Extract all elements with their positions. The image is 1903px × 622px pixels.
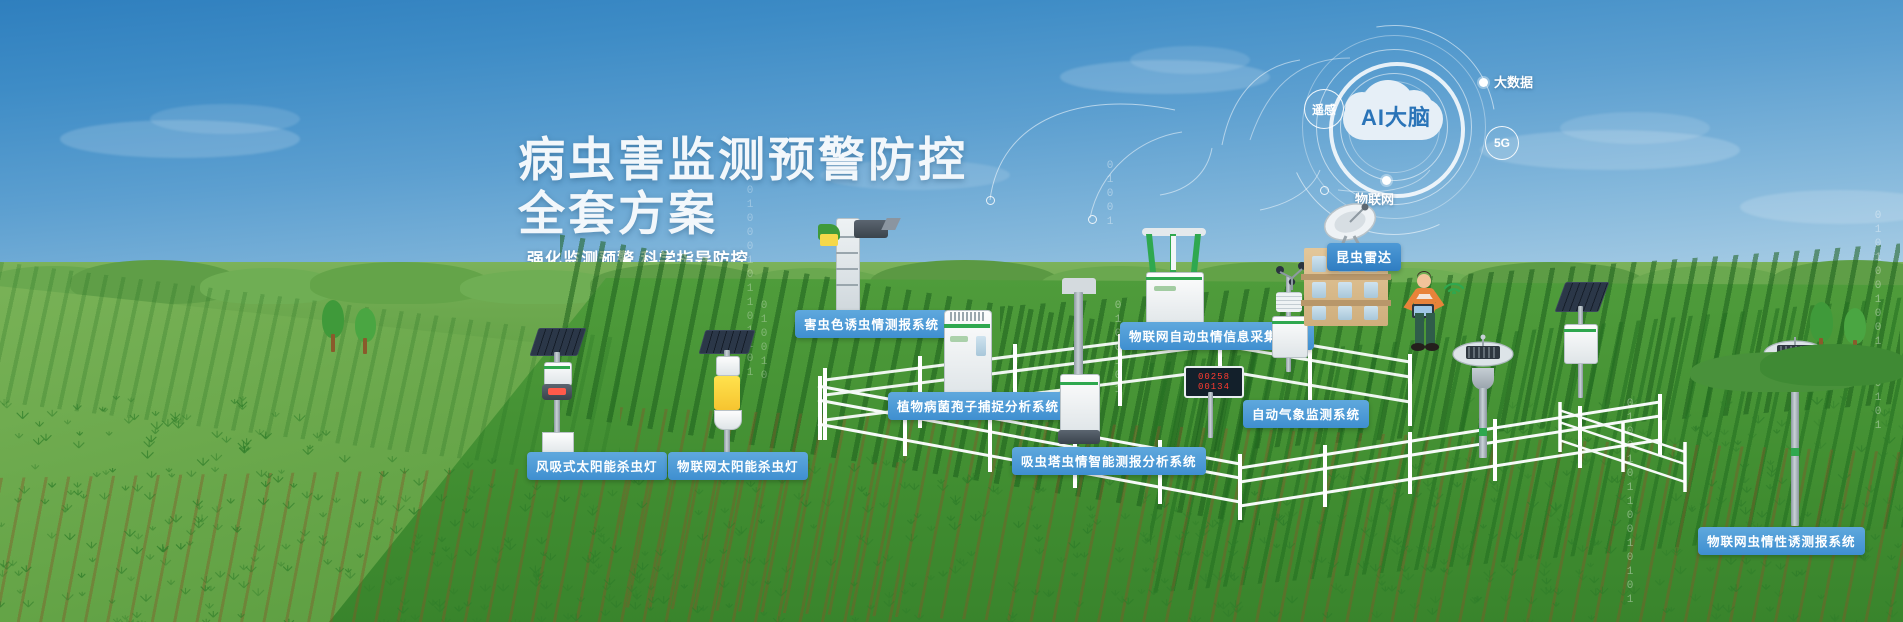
building-window <box>1338 282 1352 298</box>
building-window <box>1312 282 1326 298</box>
node-remote-sensing[interactable]: 遥感 <box>1304 89 1344 129</box>
building-window <box>1312 256 1326 272</box>
logo-mark <box>1154 286 1176 291</box>
lamp-indicator <box>548 388 566 395</box>
device-iot-solar-insect-lamp[interactable] <box>700 330 770 460</box>
tower-base <box>1058 430 1100 444</box>
connector-endpoint <box>1320 186 1329 195</box>
led-line-1: 00258 <box>1198 372 1230 382</box>
led-line-2: 00134 <box>1198 382 1230 392</box>
logo-mark <box>950 336 968 342</box>
ladder-rung <box>836 252 858 254</box>
cloud-shape <box>1560 112 1710 144</box>
label-color-lure-pest-forecast[interactable]: 害虫色诱虫情测报系统 <box>795 310 948 338</box>
node-iot-dot[interactable] <box>1382 176 1391 185</box>
funnel <box>1472 368 1494 390</box>
device-wind-suction-solar-insect-lamp[interactable] <box>530 328 600 458</box>
controller-box <box>716 356 740 376</box>
page-title: 病虫害监测预警防控 全套方案 <box>518 133 968 241</box>
building-window <box>1312 306 1326 320</box>
vent-grille <box>950 312 984 321</box>
page-title-line1: 病虫害监测预警防控 <box>518 133 968 187</box>
node-big-data-label: 大数据 <box>1494 72 1533 91</box>
lamp-cage-bar <box>1146 234 1156 272</box>
tree <box>352 308 380 354</box>
pheromone-collector-head <box>1448 338 1518 372</box>
uv-lamp <box>714 376 740 410</box>
wifi-icon <box>1441 272 1467 294</box>
label-insect-radar[interactable]: 昆虫雷达 <box>1327 243 1401 271</box>
ladder-rung <box>836 284 858 286</box>
accent-band <box>1564 329 1596 332</box>
label-wind-suction-solar-insect-lamp[interactable]: 风吸式太阳能杀虫灯 <box>527 452 667 480</box>
building-window <box>1338 306 1352 320</box>
building-window <box>1364 306 1378 320</box>
device-suction-tower-forecast[interactable] <box>1056 278 1102 448</box>
accent-band <box>1272 321 1306 324</box>
binary-decoration: 01001 <box>1104 160 1116 230</box>
node-5g-label: 5G <box>1494 136 1510 150</box>
node-remote-sensing-label: 遥感 <box>1312 101 1336 118</box>
radiation-shield <box>1276 292 1302 312</box>
label-suction-tower-forecast[interactable]: 吸虫塔虫情智能测报分析系统 <box>1012 447 1206 475</box>
device-plant-spore-capture[interactable] <box>944 310 998 400</box>
node-big-data-dot[interactable] <box>1479 78 1488 87</box>
binary-decoration: 010010110010101 <box>1624 398 1636 608</box>
accent-band <box>1060 382 1098 385</box>
sticky-board <box>820 234 838 246</box>
node-5g[interactable]: 5G <box>1485 126 1519 160</box>
lamp-cage-bar <box>1191 234 1201 272</box>
fence-inner-small <box>1555 400 1755 490</box>
connector-endpoint <box>1088 215 1097 224</box>
banner-illustration: 病虫害监测预警防控 全套方案 强化监测预警 科学指导防控 AI大脑 遥感 大数据… <box>0 0 1903 622</box>
led-display-board: 00258 00134 <box>1184 366 1244 398</box>
lamp-tube <box>1171 236 1176 270</box>
connector-endpoint <box>986 196 995 205</box>
label-auto-weather-monitoring[interactable]: 自动气象监测系统 <box>1243 400 1369 428</box>
page-title-line2: 全套方案 <box>518 187 968 241</box>
tree <box>318 300 348 352</box>
device-pole <box>1791 390 1799 526</box>
accent-band <box>544 366 570 369</box>
binary-decoration: 0101001001010101 <box>1872 210 1884 434</box>
accent-band <box>1791 448 1799 456</box>
device-iot-pheromone-forecast[interactable] <box>1448 338 1518 458</box>
building-window <box>1364 282 1378 298</box>
collection-base <box>714 410 742 430</box>
label-plant-spore-capture[interactable]: 植物病菌孢子捕捉分析系统 <box>888 392 1068 420</box>
bush <box>1760 344 1903 386</box>
led-board-pole <box>1208 392 1213 438</box>
accent-band <box>1479 428 1487 436</box>
ladder-rung <box>836 268 858 270</box>
ai-brain-label: AI大脑 <box>1361 100 1431 132</box>
accent-band <box>944 324 990 328</box>
display-window <box>976 336 986 356</box>
label-iot-pheromone-forecast[interactable]: 物联网虫情性诱测报系统 <box>1698 527 1865 555</box>
cloud-shape <box>150 104 300 134</box>
device-pole <box>1479 388 1487 458</box>
accent-band <box>1146 277 1202 280</box>
label-iot-solar-insect-lamp[interactable]: 物联网太阳能杀虫灯 <box>668 452 808 480</box>
